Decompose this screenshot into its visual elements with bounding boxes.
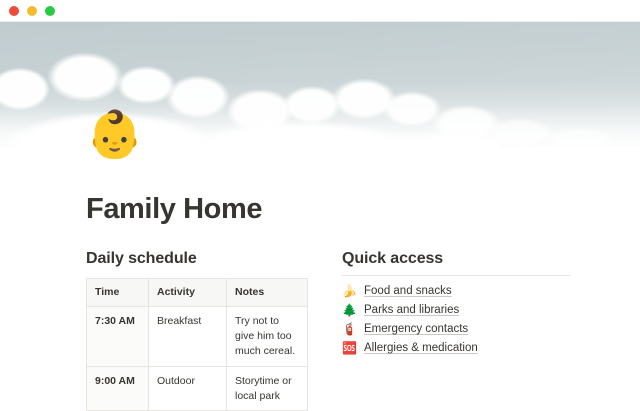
quick-access-link-parks-and-libraries[interactable]: Parks and libraries xyxy=(364,304,459,316)
list-item[interactable]: 🍌 Food and snacks xyxy=(342,285,570,297)
column-quick-access: Quick access 🍌 Food and snacks 🌲 Parks a… xyxy=(342,250,570,411)
column-daily-schedule: Daily schedule Time Activity Notes xyxy=(86,250,308,411)
cell-activity[interactable]: Breakfast xyxy=(149,306,227,366)
cell-notes[interactable]: Try not to give him too much cereal. xyxy=(227,306,308,366)
close-window-button[interactable] xyxy=(9,6,19,16)
daily-schedule-table[interactable]: Time Activity Notes 7:30 AM Breakfast Tr… xyxy=(86,278,308,411)
column-header-notes[interactable]: Notes xyxy=(227,279,308,307)
list-item[interactable]: 🆘 Allergies & medication xyxy=(342,342,570,354)
column-header-time[interactable]: Time xyxy=(87,279,149,307)
fire-extinguisher-icon: 🧯 xyxy=(342,323,356,335)
column-header-activity[interactable]: Activity xyxy=(149,279,227,307)
table-row[interactable]: 9:00 AM Outdoor Storytime or local park xyxy=(87,366,308,411)
cell-time[interactable]: 7:30 AM xyxy=(87,306,149,366)
table-header-row: Time Activity Notes xyxy=(87,279,308,307)
content-columns: Daily schedule Time Activity Notes xyxy=(0,226,640,411)
window-titlebar xyxy=(0,0,640,22)
table-row[interactable]: 7:30 AM Breakfast Try not to give him to… xyxy=(87,306,308,366)
cell-time[interactable]: 9:00 AM xyxy=(87,366,149,411)
daily-schedule-heading: Daily schedule xyxy=(86,250,308,268)
quick-access-link-allergies-and-medication[interactable]: Allergies & medication xyxy=(364,342,478,354)
sos-icon: 🆘 xyxy=(342,342,356,354)
cell-activity[interactable]: Outdoor xyxy=(149,366,227,411)
page-body: 👶 Family Home Daily schedule Time Activi… xyxy=(0,147,640,411)
minimize-window-button[interactable] xyxy=(27,6,37,16)
quick-access-heading: Quick access xyxy=(342,250,570,276)
quick-access-list: 🍌 Food and snacks 🌲 Parks and libraries … xyxy=(342,285,570,354)
quick-access-link-food-and-snacks[interactable]: Food and snacks xyxy=(364,285,452,297)
window-traffic-lights xyxy=(9,6,55,16)
list-item[interactable]: 🌲 Parks and libraries xyxy=(342,304,570,316)
baby-emoji-icon[interactable]: 👶 xyxy=(86,111,143,157)
list-item[interactable]: 🧯 Emergency contacts xyxy=(342,323,570,335)
evergreen-tree-icon: 🌲 xyxy=(342,304,356,316)
maximize-window-button[interactable] xyxy=(45,6,55,16)
banana-icon: 🍌 xyxy=(342,285,356,297)
cloud-base-mass xyxy=(0,89,500,147)
cell-notes[interactable]: Storytime or local park xyxy=(227,366,308,411)
quick-access-link-emergency-contacts[interactable]: Emergency contacts xyxy=(364,323,468,335)
